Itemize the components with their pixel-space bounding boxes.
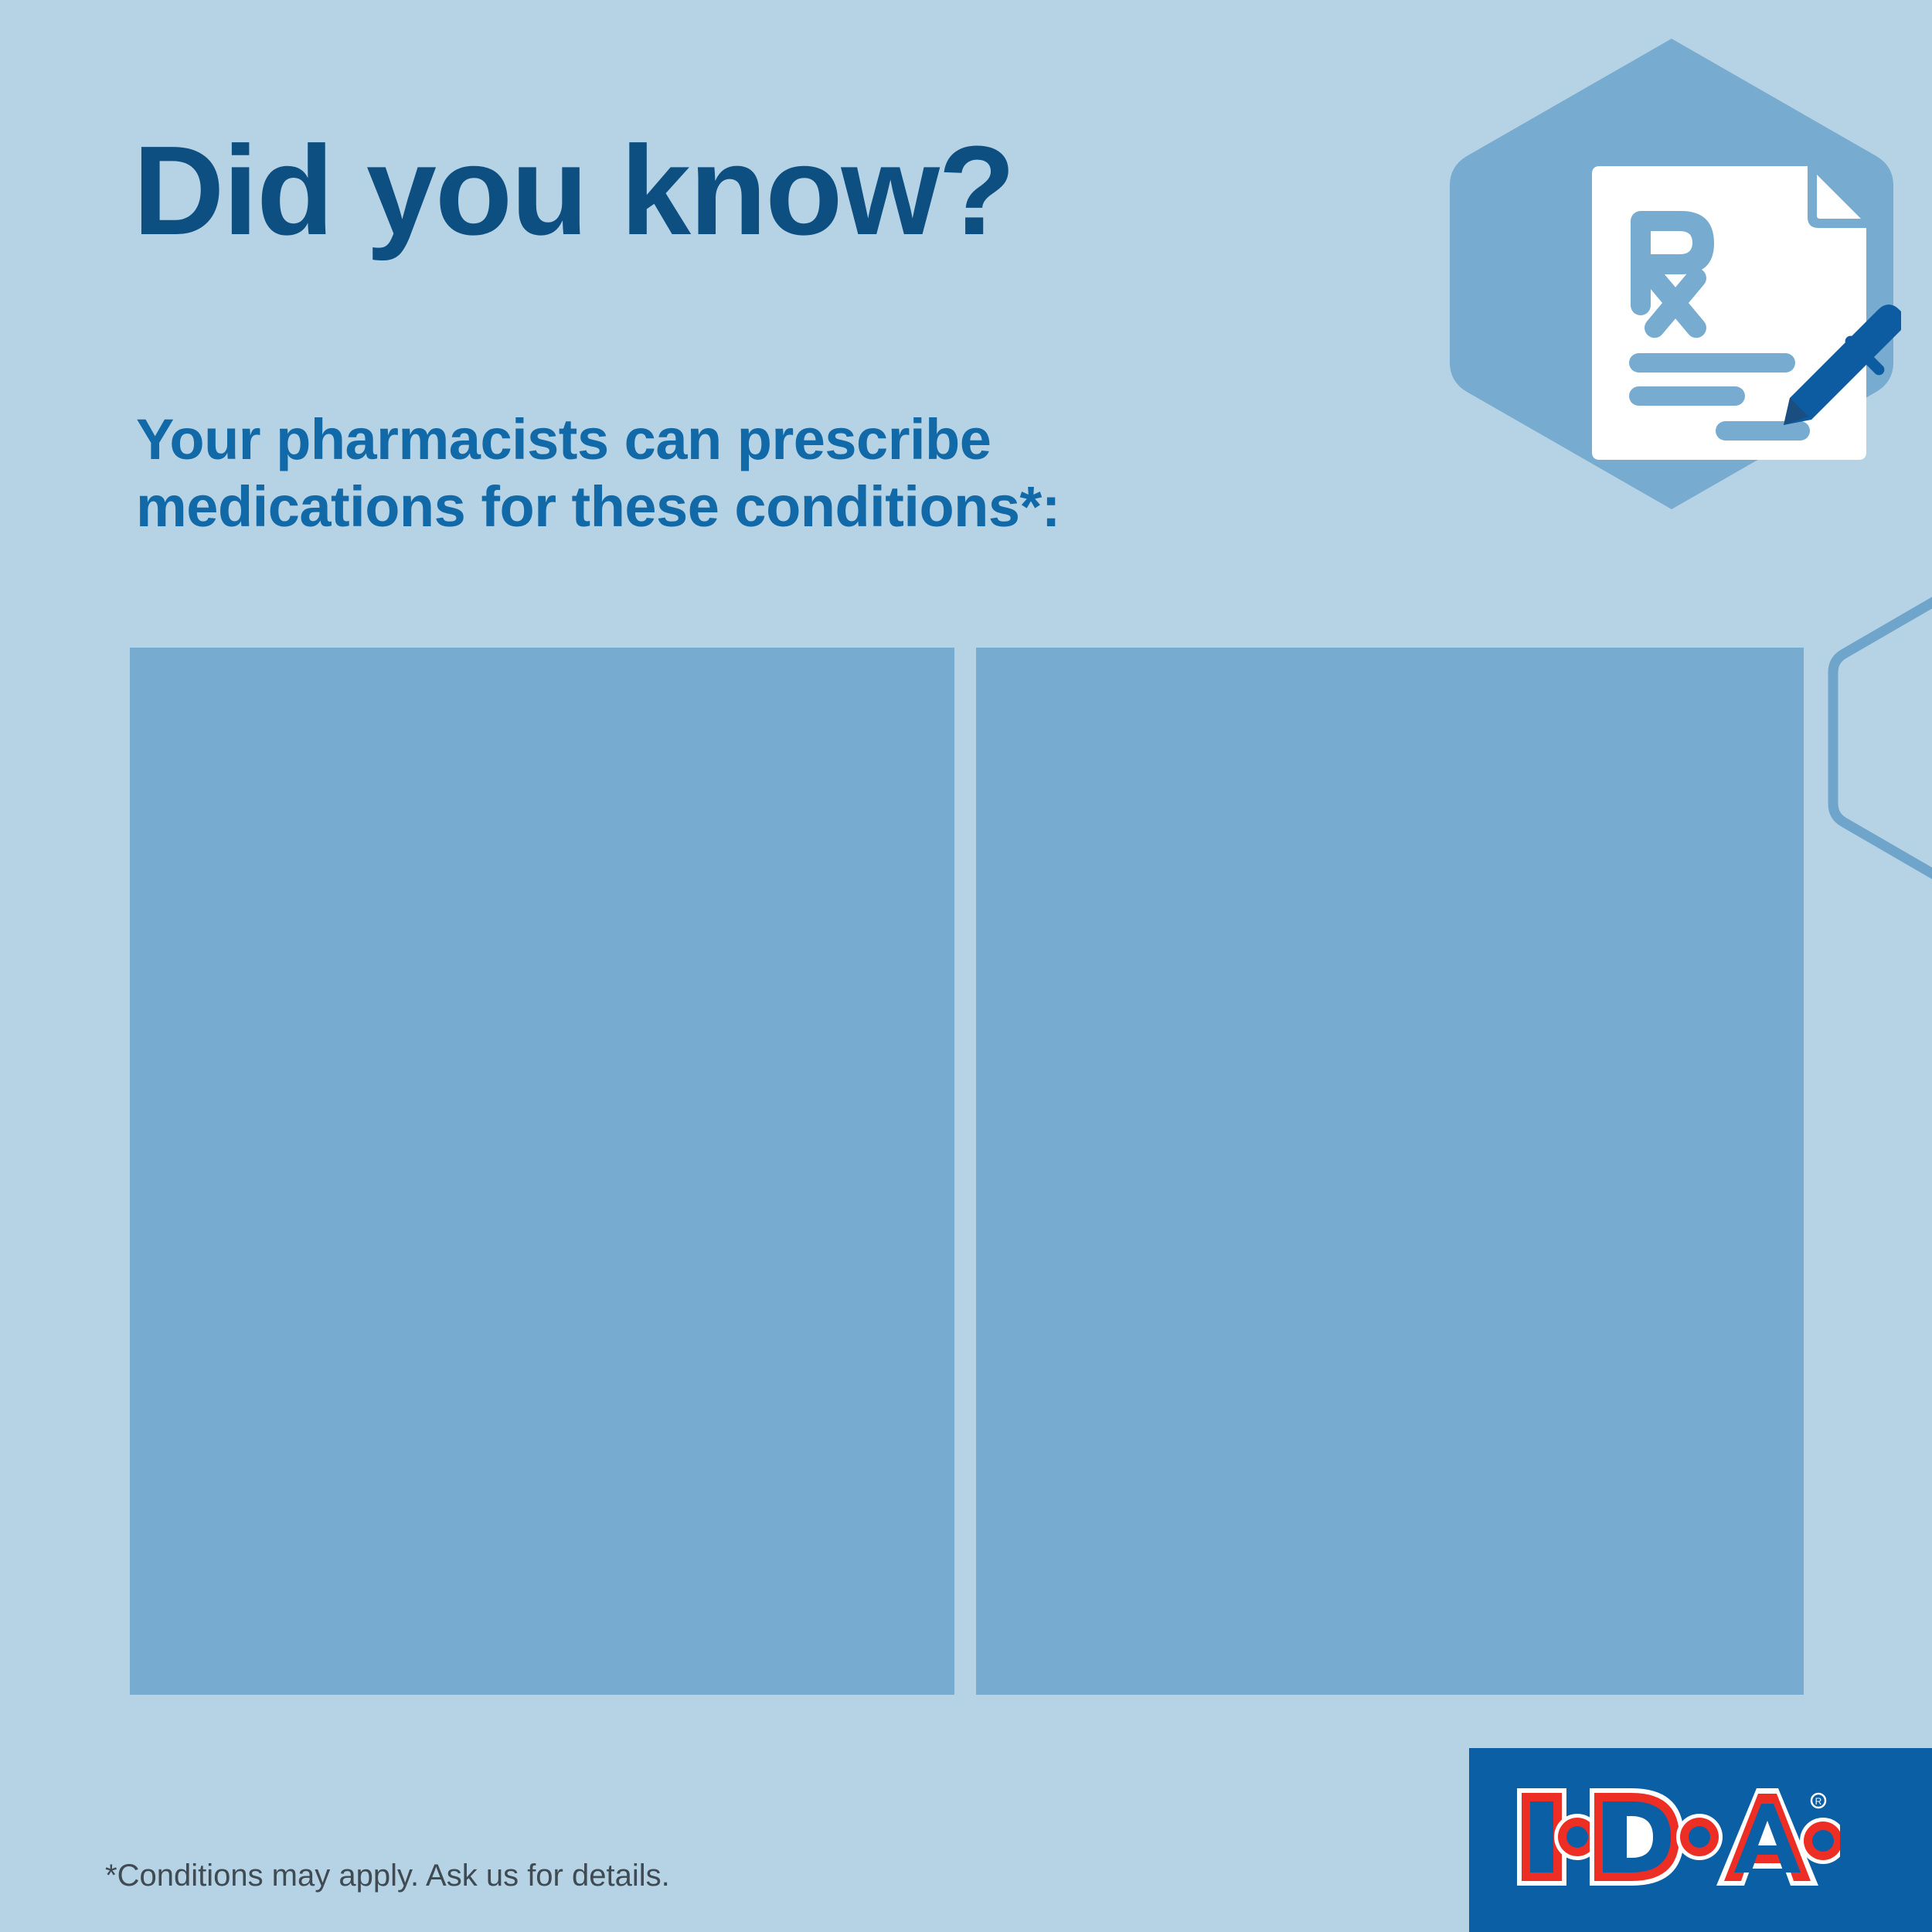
rx-prescription-document-icon [1577, 158, 1901, 468]
footnote-text: *Conditions may apply. Ask us for detail… [105, 1859, 670, 1893]
conditions-column-left [130, 648, 954, 1695]
svg-text:R: R [1815, 1796, 1822, 1807]
conditions-column-right-body [976, 648, 1804, 722]
page-title: Did you know? [133, 128, 1014, 254]
ida-logo-block: R [1469, 1748, 1932, 1932]
poster-canvas: Did you know? Your pharmacists can presc… [0, 0, 1932, 1932]
subtitle-line-1: Your pharmacists can prescribe [136, 407, 991, 471]
conditions-column-left-body [130, 648, 954, 722]
ida-pharmacy-logo: R [1515, 1787, 1840, 1887]
conditions-panels [130, 648, 1804, 1695]
hexagon-outline-shape [1818, 564, 1932, 912]
conditions-column-right [976, 648, 1804, 1695]
page-subtitle: Your pharmacists can prescribe medicatio… [136, 406, 1060, 541]
subtitle-line-2: medications for these conditions*: [136, 474, 1060, 539]
